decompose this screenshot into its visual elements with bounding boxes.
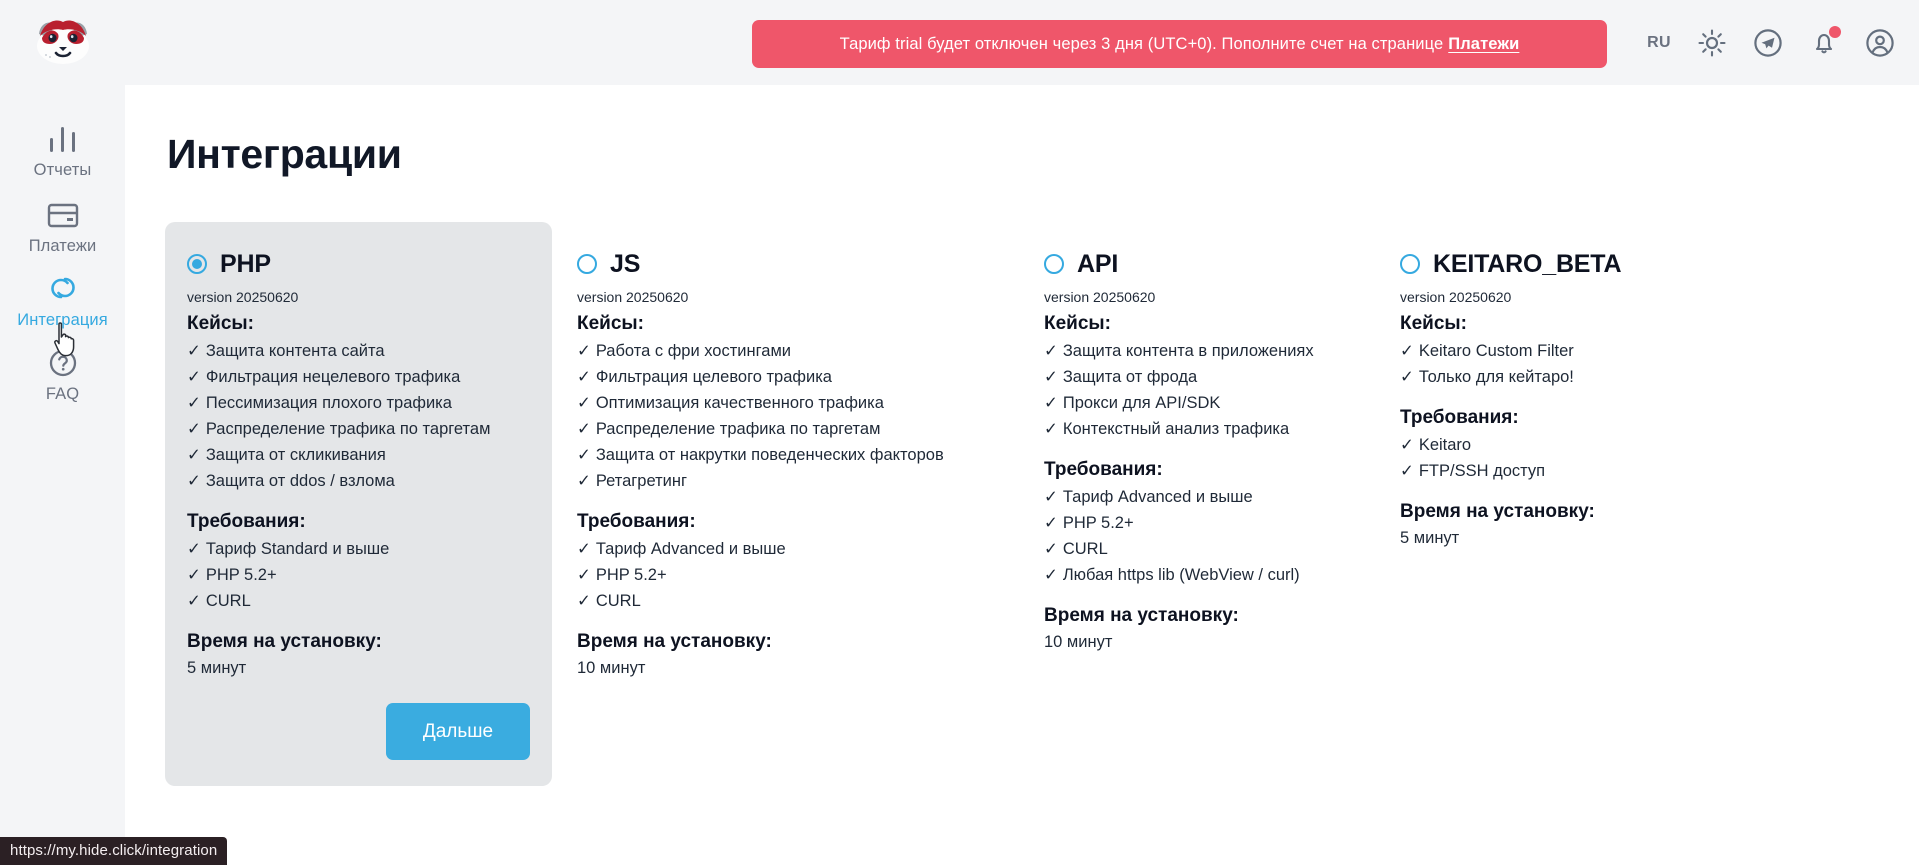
check-icon: ✓ — [187, 420, 201, 438]
sidebar-item-label: Платежи — [29, 237, 97, 256]
card-title: KEITARO_BETA — [1433, 250, 1621, 279]
question-circle-icon — [46, 340, 80, 378]
check-icon: ✓ — [1044, 368, 1058, 386]
check-icon: ✓ — [577, 368, 591, 386]
requirement-item: ✓PHP 5.2+ — [577, 565, 1008, 585]
banner-text: Тариф trial будет отключен через 3 дня (… — [840, 35, 1444, 54]
card-header: API — [1044, 248, 1360, 280]
page-title: Интеграции — [167, 131, 402, 178]
case-item: ✓Фильтрация целевого трафика — [577, 367, 1008, 387]
check-icon: ✓ — [1400, 342, 1414, 360]
cases-heading: Кейсы: — [1044, 313, 1360, 335]
header-actions: RU — [1647, 0, 1895, 85]
check-icon: ✓ — [187, 566, 201, 584]
cases-heading: Кейсы: — [1400, 313, 1756, 335]
case-item: ✓Распределение трафика по таргетам — [187, 419, 530, 439]
integration-card-keitaro-beta[interactable]: KEITARO_BETA version 20250620 Кейсы: ✓Ke… — [1378, 222, 1778, 574]
banner-payments-link[interactable]: Платежи — [1448, 35, 1519, 54]
check-icon: ✓ — [187, 472, 201, 490]
case-item: ✓Защита от ddos / взлома — [187, 471, 530, 491]
notification-badge-dot — [1829, 26, 1841, 38]
check-icon: ✓ — [1044, 540, 1058, 558]
card-header: JS — [577, 248, 1008, 280]
sidebar-item-label: Интеграция — [17, 311, 108, 330]
install-time-heading: Время на установку: — [577, 631, 1008, 653]
case-item: ✓Распределение трафика по таргетам — [577, 419, 1008, 439]
card-title: PHP — [220, 250, 271, 279]
check-icon: ✓ — [1044, 488, 1058, 506]
integration-card-api[interactable]: API version 20250620 Кейсы: ✓Защита конт… — [1022, 222, 1382, 678]
sidebar-item-platezhi[interactable]: Платежи — [0, 192, 125, 256]
sidebar-item-label: Отчеты — [34, 161, 92, 180]
case-item: ✓Защита контента сайта — [187, 341, 530, 361]
check-icon: ✓ — [577, 342, 591, 360]
language-switcher[interactable]: RU — [1647, 34, 1671, 52]
telegram-icon[interactable] — [1753, 28, 1783, 58]
requirement-item: ✓CURL — [1044, 539, 1360, 559]
check-icon: ✓ — [1044, 394, 1058, 412]
requirement-item: ✓Любая https lib (WebView / curl) — [1044, 565, 1360, 585]
sidebar-item-label: FAQ — [46, 385, 79, 404]
requirements-heading: Требования: — [1044, 459, 1360, 481]
top-header: Тариф trial будет отключен через 3 дня (… — [125, 0, 1919, 85]
check-icon: ✓ — [577, 420, 591, 438]
case-item: ✓Только для кейтаро! — [1400, 367, 1756, 387]
case-item: ✓Контекстный анализ трафика — [1044, 419, 1360, 439]
case-item: ✓Оптимизация качественного трафика — [577, 393, 1008, 413]
install-time-value: 5 минут — [187, 659, 530, 678]
radio-js[interactable] — [577, 254, 597, 274]
main-content: Интеграции PHP version 20250620 Кейсы: ✓… — [125, 85, 1919, 865]
radio-php[interactable] — [187, 254, 207, 274]
bar-chart-icon — [46, 116, 80, 154]
requirement-item: ✓Тариф Standard и выше — [187, 539, 530, 559]
next-button[interactable]: Дальше — [386, 703, 530, 760]
install-time-value: 5 минут — [1400, 529, 1756, 548]
raccoon-logo[interactable] — [0, 6, 125, 76]
radio-dot — [192, 259, 202, 269]
sidebar-item-otchety[interactable]: Отчеты — [0, 116, 125, 180]
check-icon: ✓ — [1044, 514, 1058, 532]
card-title: JS — [610, 250, 640, 279]
requirements-heading: Требования: — [577, 511, 1008, 533]
case-item: ✓Ретагретинг — [577, 471, 1008, 491]
integration-card-php[interactable]: PHP version 20250620 Кейсы: ✓Защита конт… — [165, 222, 552, 786]
sidebar-item-integraciya[interactable]: Интеграция — [0, 266, 125, 330]
sun-icon[interactable] — [1697, 28, 1727, 58]
radio-api[interactable] — [1044, 254, 1064, 274]
cases-heading: Кейсы: — [187, 313, 530, 335]
case-item: ✓Защита от скликивания — [187, 445, 530, 465]
card-header: KEITARO_BETA — [1400, 248, 1756, 280]
user-account-icon[interactable] — [1865, 28, 1895, 58]
card-header: PHP — [187, 248, 530, 280]
case-item: ✓Защита от фрода — [1044, 367, 1360, 387]
check-icon: ✓ — [187, 342, 201, 360]
check-icon: ✓ — [577, 566, 591, 584]
install-time-heading: Время на установку: — [187, 631, 530, 653]
app-root: Отчеты Платежи Интеграция — [0, 0, 1919, 865]
requirements-heading: Требования: — [187, 511, 530, 533]
card-version: version 20250620 — [1400, 289, 1756, 305]
radio-keitaro-beta[interactable] — [1400, 254, 1420, 274]
check-icon: ✓ — [1044, 566, 1058, 584]
check-icon: ✓ — [577, 446, 591, 464]
integration-card-js[interactable]: JS version 20250620 Кейсы: ✓Работа с фри… — [555, 222, 1030, 704]
case-item: ✓Пессимизация плохого трафика — [187, 393, 530, 413]
card-version: version 20250620 — [187, 289, 530, 305]
card-version: version 20250620 — [577, 289, 1008, 305]
check-icon: ✓ — [1044, 420, 1058, 438]
raccoon-logo-icon — [34, 16, 92, 66]
check-icon: ✓ — [1400, 368, 1414, 386]
trial-warning-banner: Тариф trial будет отключен через 3 дня (… — [752, 20, 1607, 68]
requirements-heading: Требования: — [1400, 407, 1756, 429]
requirement-item: ✓CURL — [187, 591, 530, 611]
sidebar: Отчеты Платежи Интеграция — [0, 0, 125, 865]
check-icon: ✓ — [577, 394, 591, 412]
install-time-heading: Время на установку: — [1400, 501, 1756, 523]
bell-icon[interactable] — [1809, 28, 1839, 58]
case-item: ✓Работа с фри хостингами — [577, 341, 1008, 361]
check-icon: ✓ — [1400, 436, 1414, 454]
link-chain-icon — [45, 266, 81, 304]
sidebar-item-faq[interactable]: FAQ — [0, 340, 125, 404]
check-icon: ✓ — [577, 472, 591, 490]
install-time-value: 10 минут — [1044, 633, 1360, 652]
check-icon: ✓ — [1044, 342, 1058, 360]
card-title: API — [1077, 250, 1118, 279]
check-icon: ✓ — [187, 368, 201, 386]
requirement-item: ✓Keitaro — [1400, 435, 1756, 455]
requirement-item: ✓CURL — [577, 591, 1008, 611]
requirement-item: ✓Тариф Advanced и выше — [577, 539, 1008, 559]
requirement-item: ✓PHP 5.2+ — [1044, 513, 1360, 533]
card-version: version 20250620 — [1044, 289, 1360, 305]
check-icon: ✓ — [577, 592, 591, 610]
check-icon: ✓ — [187, 540, 201, 558]
requirement-item: ✓PHP 5.2+ — [187, 565, 530, 585]
case-item: ✓Keitaro Custom Filter — [1400, 341, 1756, 361]
check-icon: ✓ — [187, 446, 201, 464]
requirement-item: ✓Тариф Advanced и выше — [1044, 487, 1360, 507]
credit-card-icon — [45, 192, 81, 230]
check-icon: ✓ — [1400, 462, 1414, 480]
requirement-item: ✓FTP/SSH доступ — [1400, 461, 1756, 481]
case-item: ✓Прокси для API/SDK — [1044, 393, 1360, 413]
status-bar-url: https://my.hide.click/integration — [0, 837, 227, 865]
case-item: ✓Фильтрация нецелевого трафика — [187, 367, 530, 387]
cases-heading: Кейсы: — [577, 313, 1008, 335]
case-item: ✓Защита контента в приложениях — [1044, 341, 1360, 361]
check-icon: ✓ — [187, 394, 201, 412]
case-item: ✓Защита от накрутки поведенческих фактор… — [577, 445, 1008, 465]
check-icon: ✓ — [577, 540, 591, 558]
install-time-heading: Время на установку: — [1044, 605, 1360, 627]
install-time-value: 10 минут — [577, 659, 1008, 678]
check-icon: ✓ — [187, 592, 201, 610]
